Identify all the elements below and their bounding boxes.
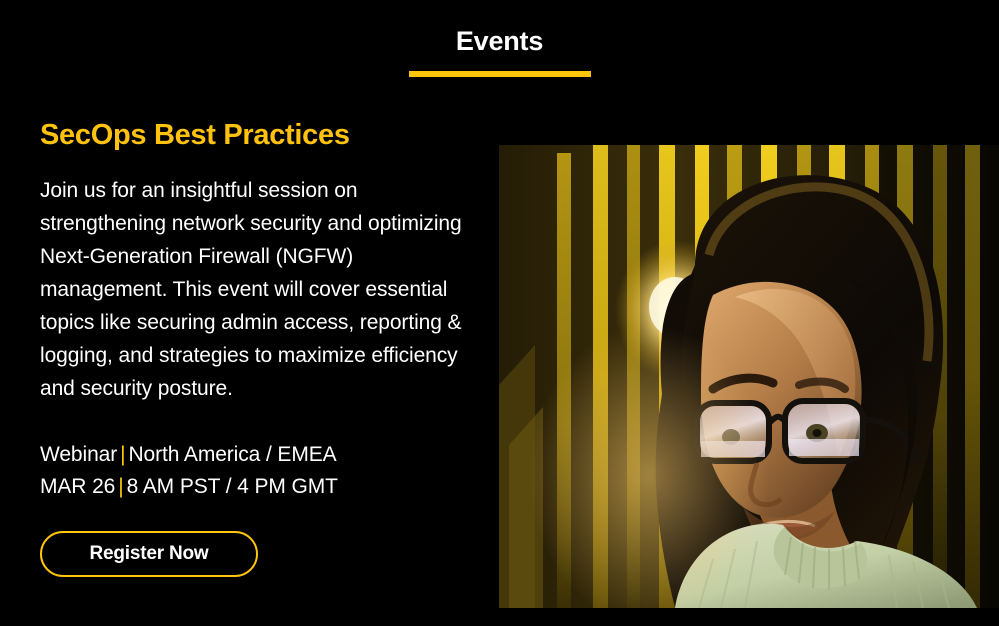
event-times: 8 AM PST / 4 PM GMT xyxy=(127,475,338,498)
events-promo-panel: Events SecOps Best Practices Join us for… xyxy=(0,0,999,626)
title-underline-accent xyxy=(409,71,591,77)
page-title: Events xyxy=(0,26,999,57)
event-meta-line-format: Webinar|North America / EMEA xyxy=(40,439,470,471)
meta-separator: | xyxy=(117,443,128,466)
register-now-button[interactable]: Register Now xyxy=(40,531,258,577)
meta-separator: | xyxy=(115,475,126,498)
event-format: Webinar xyxy=(40,443,117,466)
event-meta: Webinar|North America / EMEA MAR 26|8 AM… xyxy=(40,439,470,503)
event-heading: SecOps Best Practices xyxy=(40,120,470,152)
event-description: Join us for an insightful session on str… xyxy=(40,174,465,405)
event-details-column: SecOps Best Practices Join us for an ins… xyxy=(40,120,470,577)
event-regions: North America / EMEA xyxy=(128,443,336,466)
event-hero-image xyxy=(499,145,999,608)
event-date: MAR 26 xyxy=(40,475,115,498)
event-meta-line-schedule: MAR 26|8 AM PST / 4 PM GMT xyxy=(40,471,470,503)
